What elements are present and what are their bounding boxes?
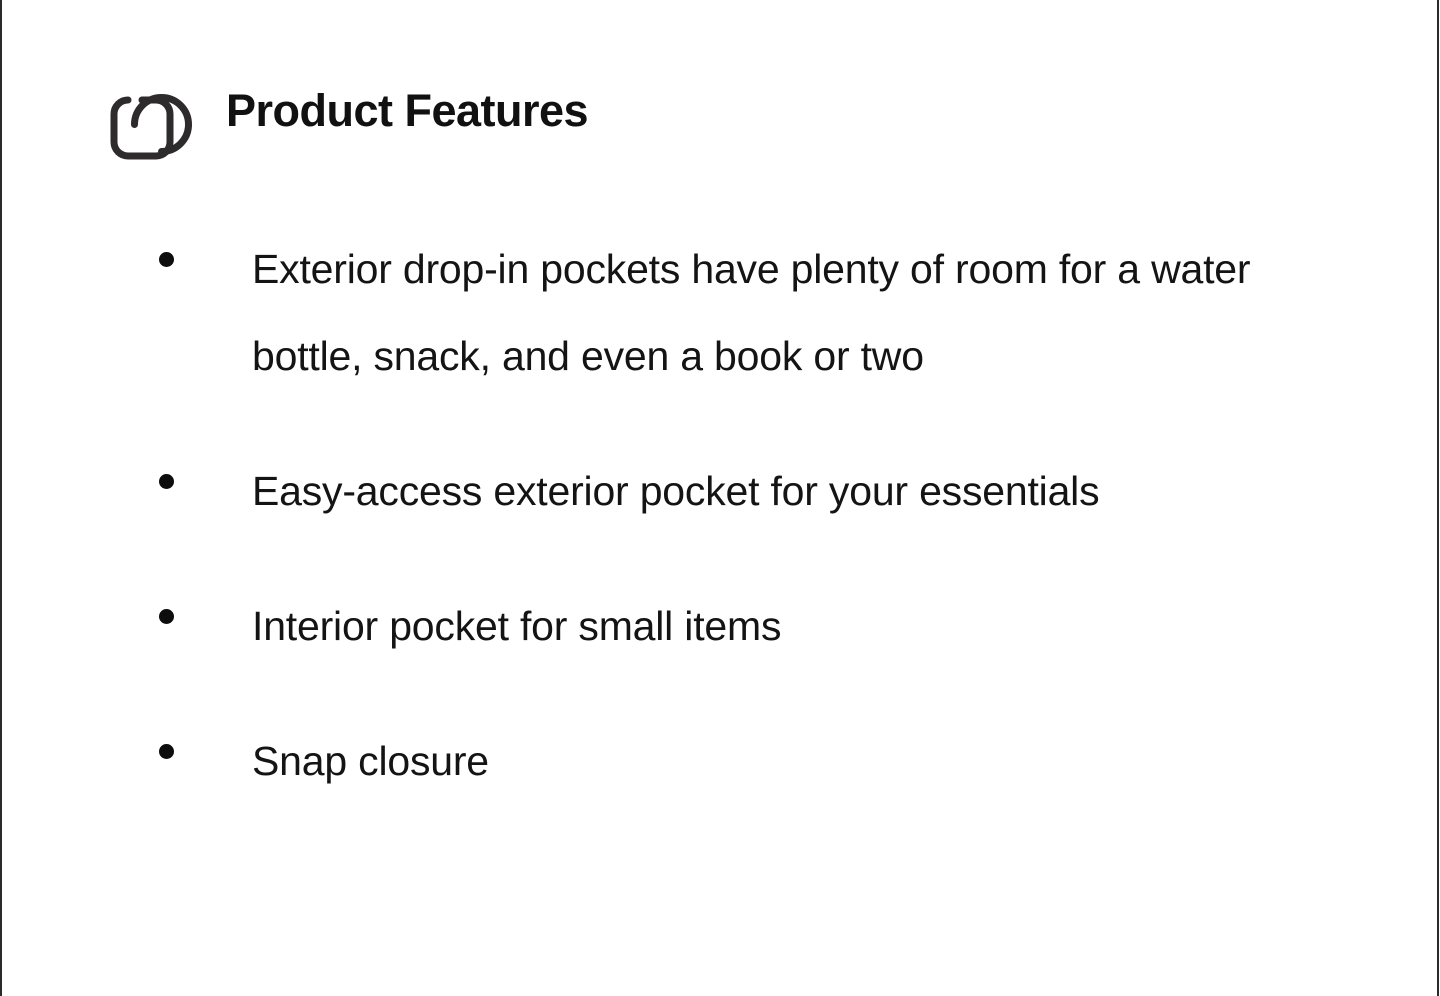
feature-text: Interior pocket for small items (252, 603, 781, 649)
list-item: Exterior drop-in pockets have plenty of … (152, 226, 1362, 400)
feature-list: Exterior drop-in pockets have plenty of … (152, 226, 1362, 805)
list-item: Interior pocket for small items (152, 583, 1362, 670)
bullet-icon (159, 744, 174, 759)
list-item: Snap closure (152, 718, 1362, 805)
page-title: Product Features (226, 88, 588, 133)
bullet-icon (159, 609, 174, 624)
left-edge-rule (0, 0, 2, 996)
product-features-card: Product Features Exterior drop-in pocket… (0, 0, 1440, 996)
feature-text: Easy-access exterior pocket for your ess… (252, 468, 1099, 514)
bullet-icon (159, 474, 174, 489)
bullet-icon (159, 252, 174, 267)
section-header: Product Features (100, 66, 588, 164)
feature-text: Exterior drop-in pockets have plenty of … (252, 246, 1250, 379)
right-edge-rule (1437, 0, 1439, 996)
list-item: Easy-access exterior pocket for your ess… (152, 448, 1362, 535)
interlocking-links-icon (100, 68, 196, 164)
feature-text: Snap closure (252, 738, 489, 784)
